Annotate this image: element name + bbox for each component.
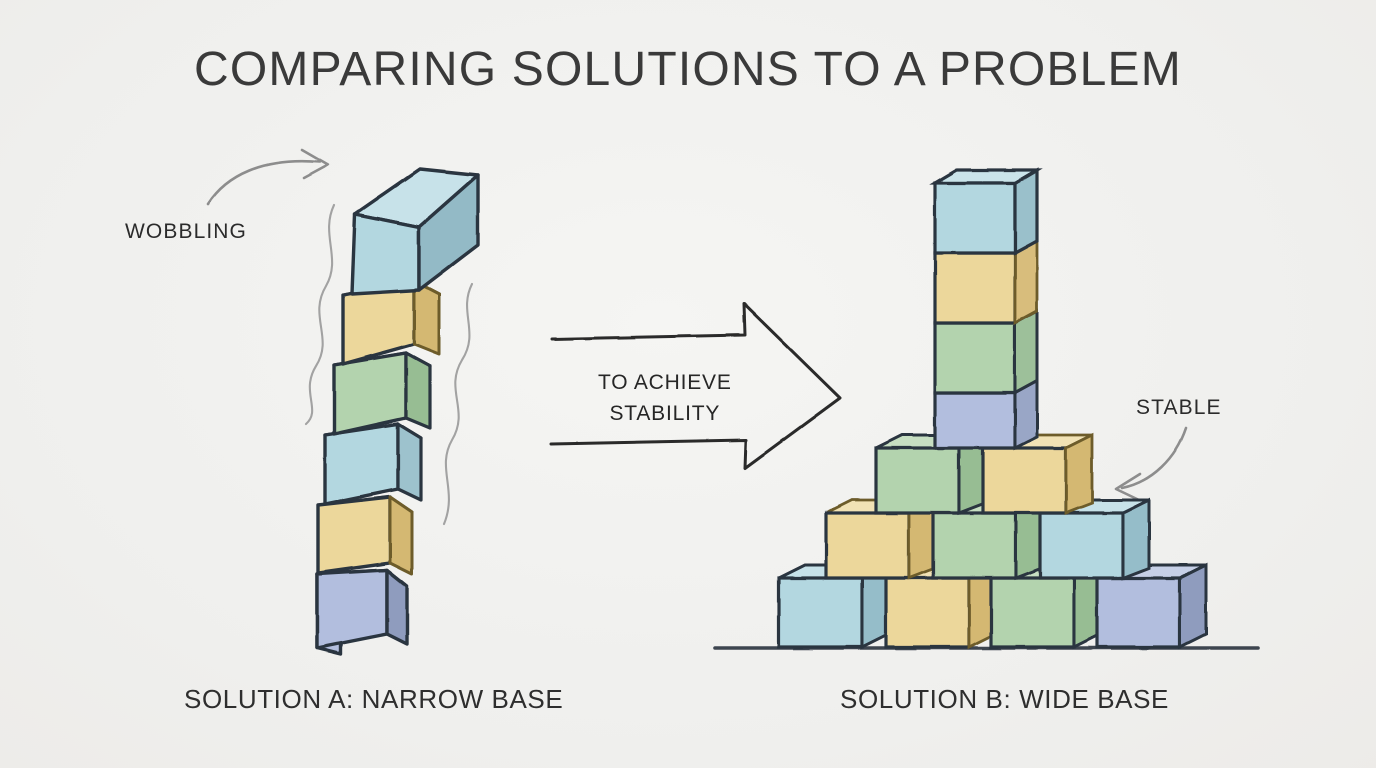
block-a6-blue-top [352, 169, 478, 294]
center-arrow-label-line1: TO ACHIEVE [598, 368, 732, 399]
illustration-canvas: COMPARING SOLUTIONS TO A PROBLEM [0, 0, 1376, 768]
wobble-line-right [444, 284, 472, 524]
block-a2-yellow [318, 497, 412, 574]
wobbling-arrow [208, 150, 328, 204]
caption-solution-a: SOLUTION A: NARROW BASE [184, 684, 563, 715]
annotation-stable: STABLE [1136, 396, 1222, 420]
row7-block-blue-top [935, 170, 1037, 253]
block-a1-periwinkle [317, 570, 407, 654]
solution-a-tower [317, 169, 478, 654]
caption-solution-b: SOLUTION B: WIDE BASE [840, 684, 1169, 715]
block-a3-blue [325, 424, 421, 504]
wobble-line-left [306, 205, 334, 424]
block-a4-green [334, 353, 430, 434]
center-arrow-label: TO ACHIEVE STABILITY [598, 368, 732, 429]
annotation-wobbling: WOBBLING [125, 220, 247, 244]
stable-arrow [1116, 428, 1186, 500]
center-arrow-label-line2: STABILITY [598, 399, 732, 430]
